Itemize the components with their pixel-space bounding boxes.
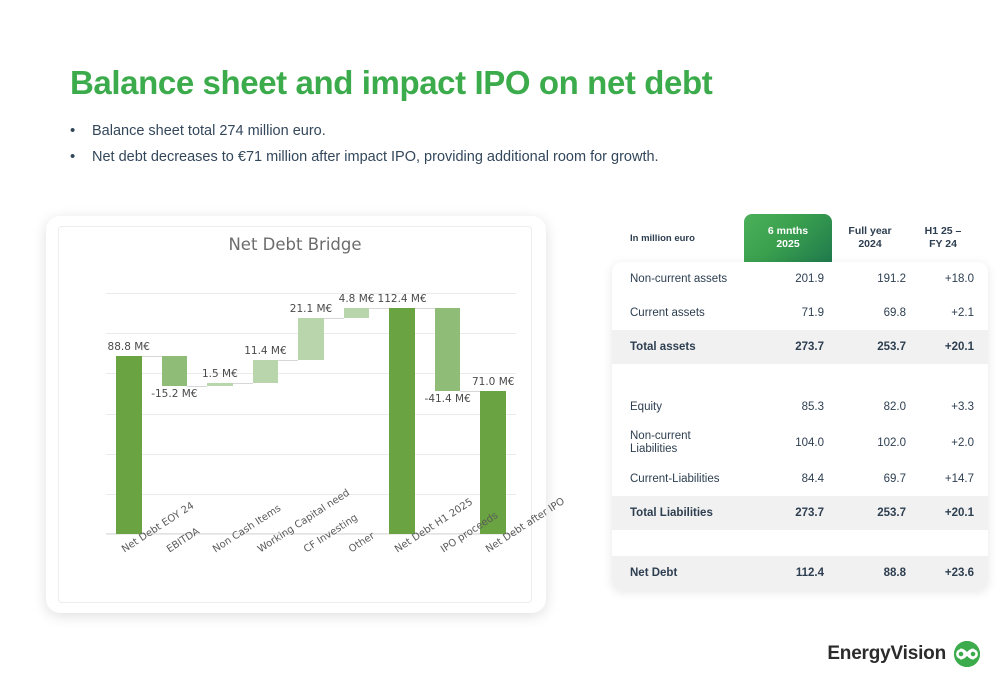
- chart-data-label: -15.2 M€: [151, 388, 197, 400]
- table-column-header: H1 25 –FY 24: [904, 214, 982, 262]
- chart-bar: [162, 356, 188, 387]
- table-cell-value: +23.6: [912, 556, 974, 590]
- table-row: Non-currentLiabilities104.0102.0+2.0: [612, 424, 988, 462]
- chart-bar: [298, 318, 324, 360]
- chart-bar: [344, 308, 370, 318]
- column-header-line1: 6 mnths: [768, 225, 808, 238]
- table-cell-value: 102.0: [834, 424, 906, 462]
- table-cell-value: +18.0: [912, 262, 974, 296]
- table-row-label: Total Liabilities: [630, 496, 750, 530]
- table-row-label: Net Debt: [630, 556, 750, 590]
- table-cell-value: +3.3: [912, 390, 974, 424]
- chart-gridline: [106, 494, 516, 495]
- bullet-list: •Balance sheet total 274 million euro.•N…: [70, 120, 830, 172]
- chart-connector: [415, 308, 435, 309]
- table-row-label: Non-currentLiabilities: [630, 424, 750, 462]
- chart-data-label: 11.4 M€: [244, 345, 286, 357]
- table-cell-value: +20.1: [912, 330, 974, 364]
- table-cell-value: 84.4: [752, 462, 824, 496]
- table-row-label-line2: Liabilities: [630, 443, 691, 456]
- table-cell-value: 112.4: [752, 556, 824, 590]
- table-row: Total assets273.7253.7+20.1: [612, 330, 988, 364]
- chart-connector: [142, 356, 162, 357]
- column-header-line2: FY 24: [929, 238, 957, 251]
- chart-data-label: 88.8 M€: [108, 341, 150, 353]
- table-row: Total Liabilities273.7253.7+20.1: [612, 496, 988, 530]
- chart-connector: [187, 386, 207, 387]
- page-title: Balance sheet and impact IPO on net debt: [70, 64, 712, 102]
- brand-logo: EnergyVision: [827, 641, 980, 667]
- chart-data-label: 4.8 M€: [339, 293, 375, 305]
- bullet-text: Balance sheet total 274 million euro.: [92, 120, 326, 142]
- chart-bar: [389, 308, 415, 534]
- table-cell-value: +14.7: [912, 462, 974, 496]
- chart-data-label: -41.4 M€: [425, 393, 471, 405]
- infinity-icon: [954, 641, 980, 667]
- chart-title: Net Debt Bridge: [59, 235, 531, 254]
- table-row: Current-Liabilities84.469.7+14.7: [612, 462, 988, 496]
- table-cell-value: 253.7: [834, 330, 906, 364]
- table-cell-value: 69.7: [834, 462, 906, 496]
- table-cell-value: 69.8: [834, 296, 906, 330]
- table-row: Non-current assets201.9191.2+18.0: [612, 262, 988, 296]
- column-header-line1: Full year: [848, 225, 891, 238]
- chart-bar: [253, 360, 279, 383]
- logo-text: EnergyVision: [827, 643, 946, 665]
- table-cell-value: 104.0: [752, 424, 824, 462]
- slide-root: Balance sheet and impact IPO on net debt…: [0, 0, 1000, 685]
- chart-data-label: 1.5 M€: [202, 368, 238, 380]
- table-cell-value: 82.0: [834, 390, 906, 424]
- chart-data-label: 21.1 M€: [290, 303, 332, 315]
- chart-bar: [116, 356, 142, 534]
- table-header-row: In million euro6 mnths2025Full year2024H…: [612, 214, 988, 262]
- chart-baseline: [106, 533, 516, 534]
- chart-data-label: 71.0 M€: [472, 376, 514, 388]
- table-row: Net Debt112.488.8+23.6: [612, 556, 988, 590]
- table-corner-label: In million euro: [630, 214, 750, 262]
- column-header-line1: H1 25 –: [925, 225, 962, 238]
- chart-connector: [233, 383, 253, 384]
- column-header-line2: 2024: [858, 238, 881, 251]
- table-cell-value: 201.9: [752, 262, 824, 296]
- chart-inner-frame: Net Debt Bridge 88.8 M€-15.2 M€1.5 M€11.…: [58, 226, 532, 603]
- table-cell-value: +2.1: [912, 296, 974, 330]
- chart-gridline: [106, 293, 516, 294]
- chart-bar: [435, 308, 461, 391]
- bullet-marker: •: [70, 120, 92, 142]
- table-body: Non-current assets201.9191.2+18.0Current…: [612, 262, 988, 590]
- table-row-label: Total assets: [630, 330, 750, 364]
- chart-connector: [369, 308, 389, 309]
- chart-x-axis-labels: Net Debt EOY 24EBITDANon Cash ItemsWorki…: [106, 542, 516, 612]
- table-column-header: Full year2024: [826, 214, 914, 262]
- table-row-label: Equity: [630, 390, 750, 424]
- column-header-line2: 2025: [776, 238, 799, 251]
- table-row-label: Current assets: [630, 296, 750, 330]
- chart-bar: [207, 383, 233, 386]
- chart-gridline: [106, 414, 516, 415]
- table-spacer-row: [612, 364, 988, 390]
- waterfall-chart-plot: 88.8 M€-15.2 M€1.5 M€11.4 M€21.1 M€4.8 M…: [106, 273, 516, 534]
- table-cell-value: +2.0: [912, 424, 974, 462]
- bullet-item: •Balance sheet total 274 million euro.: [70, 120, 830, 142]
- table-cell-value: 85.3: [752, 390, 824, 424]
- table-cell-value: 191.2: [834, 262, 906, 296]
- chart-card: Net Debt Bridge 88.8 M€-15.2 M€1.5 M€11.…: [46, 216, 546, 613]
- table-cell-value: 273.7: [752, 330, 824, 364]
- table-cell-value: 88.8: [834, 556, 906, 590]
- chart-connector: [278, 360, 298, 361]
- table-cell-value: 253.7: [834, 496, 906, 530]
- chart-gridline: [106, 454, 516, 455]
- bullet-text: Net debt decreases to €71 million after …: [92, 146, 659, 168]
- chart-data-label: 112.4 M€: [378, 293, 427, 305]
- table-spacer-row: [612, 530, 988, 556]
- table-cell-value: 71.9: [752, 296, 824, 330]
- table-column-header: 6 mnths2025: [744, 214, 832, 262]
- balance-sheet-table: In million euro6 mnths2025Full year2024H…: [612, 214, 988, 614]
- table-cell-value: +20.1: [912, 496, 974, 530]
- table-row-label-line1: Non-current: [630, 430, 691, 443]
- table-cell-value: 273.7: [752, 496, 824, 530]
- table-row: Equity85.382.0+3.3: [612, 390, 988, 424]
- table-row-label: Non-current assets: [630, 262, 750, 296]
- table-row: Current assets71.969.8+2.1: [612, 296, 988, 330]
- table-row-label: Current-Liabilities: [630, 462, 750, 496]
- bullet-marker: •: [70, 146, 92, 168]
- table-row-label-wrap: Non-currentLiabilities: [630, 430, 691, 456]
- chart-connector: [460, 391, 480, 392]
- chart-connector: [324, 318, 344, 319]
- bullet-item: •Net debt decreases to €71 million after…: [70, 146, 830, 168]
